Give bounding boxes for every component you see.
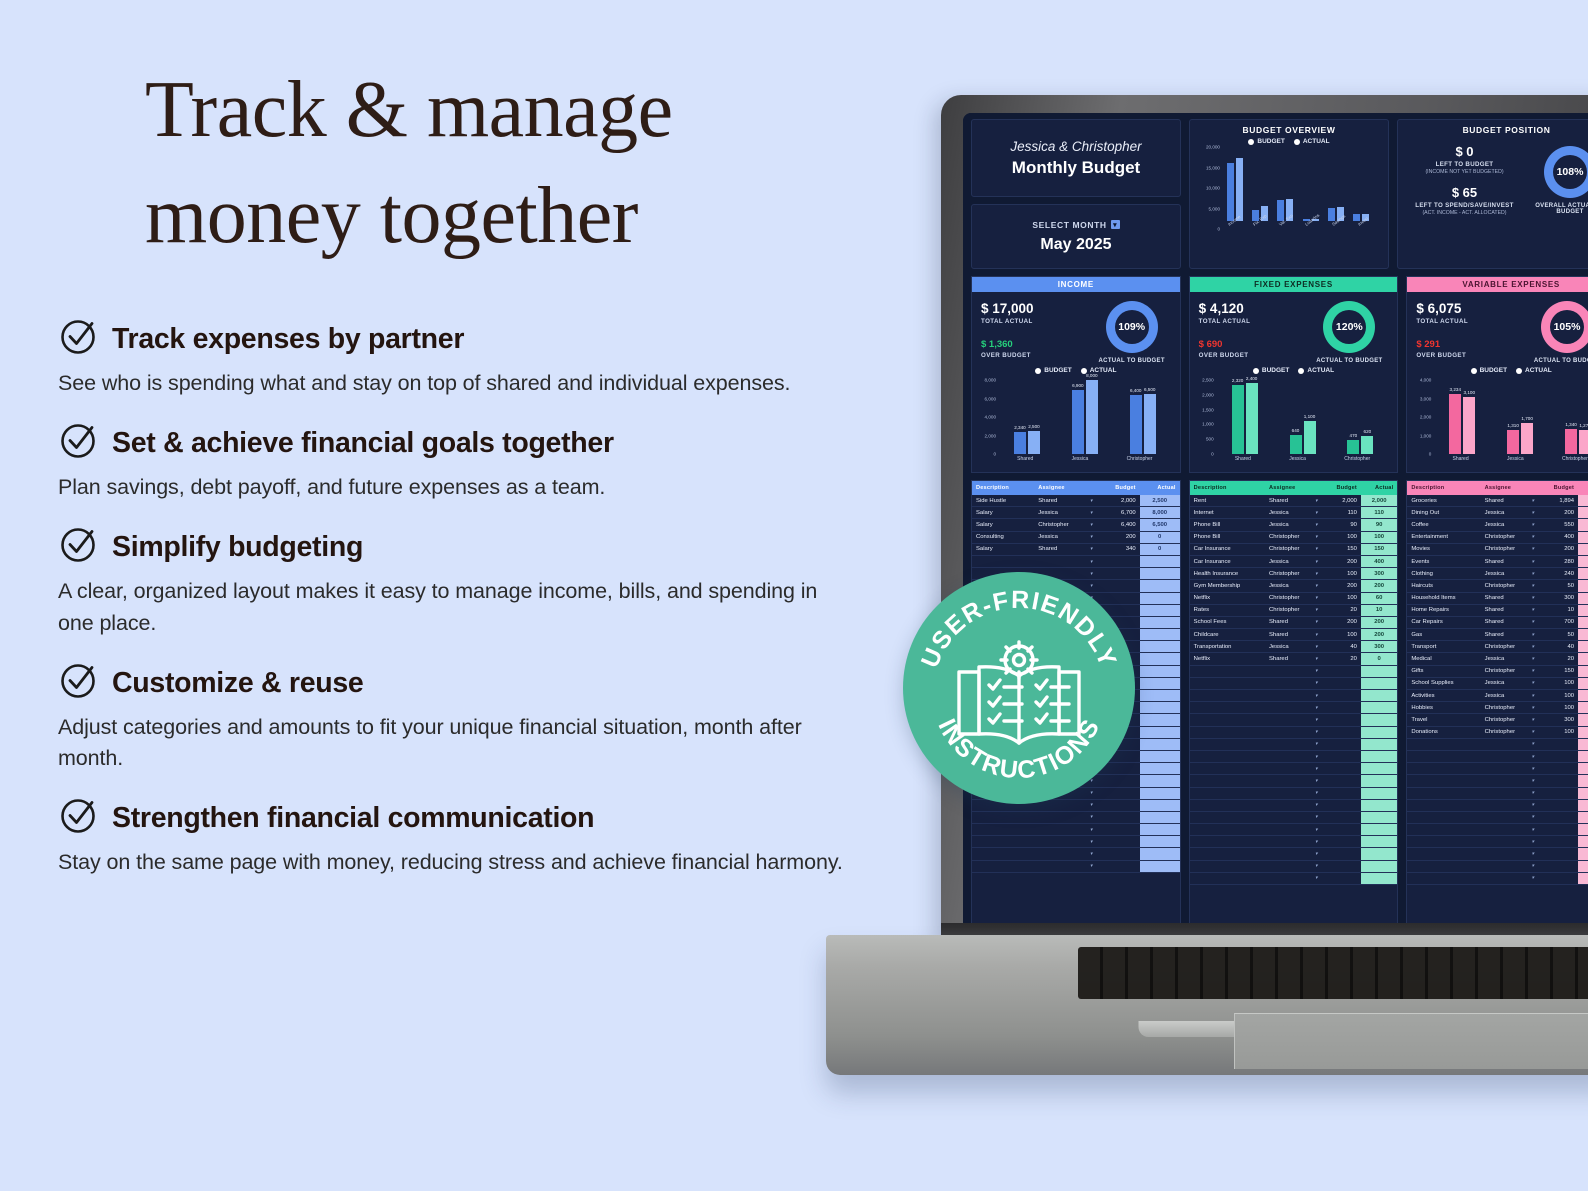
cell-description[interactable]: Phone Bill xyxy=(1190,519,1265,531)
cell-actual[interactable] xyxy=(1140,836,1180,848)
table-row[interactable]: Car Repairs Shared▾ 700 700 xyxy=(1407,616,1588,628)
column-header[interactable]: Description xyxy=(1407,481,1480,495)
table-row[interactable]: Gym Membership Jessica▾ 200 200 xyxy=(1190,580,1398,592)
chevron-down-icon[interactable]: ▾ xyxy=(1532,546,1535,552)
table-row[interactable]: ▾ xyxy=(1407,775,1588,787)
chevron-down-icon[interactable]: ▾ xyxy=(1090,498,1093,504)
table-row[interactable]: Health Insurance Christopher▾ 100 300 xyxy=(1190,568,1398,580)
cell-assignee[interactable]: ▾ xyxy=(1265,690,1322,702)
cell-budget[interactable]: 200 xyxy=(1538,507,1578,519)
cell-budget[interactable] xyxy=(1538,775,1578,787)
chevron-down-icon[interactable]: ▾ xyxy=(1532,595,1535,601)
cell-actual[interactable] xyxy=(1140,750,1180,762)
cell-actual[interactable]: 8,000 xyxy=(1140,507,1180,519)
cell-budget[interactable]: 100 xyxy=(1322,592,1361,604)
chevron-down-icon[interactable]: ▾ xyxy=(1532,498,1535,504)
chevron-down-icon[interactable]: ▾ xyxy=(1315,705,1318,711)
table-row[interactable]: Medical Jessica▾ 20 0 xyxy=(1407,653,1588,665)
chevron-down-icon[interactable]: ▾ xyxy=(1315,644,1318,650)
table-row[interactable]: ▾ xyxy=(1190,750,1398,762)
cell-actual[interactable] xyxy=(1361,860,1397,872)
cell-assignee[interactable]: Jessica▾ xyxy=(1265,641,1322,653)
column-header[interactable]: Budget xyxy=(1322,481,1361,495)
cell-budget[interactable] xyxy=(1322,824,1361,836)
cell-description[interactable] xyxy=(1407,750,1480,762)
cell-description[interactable] xyxy=(1190,738,1265,750)
cell-description[interactable] xyxy=(1407,848,1480,860)
table-row[interactable]: ▾ xyxy=(1190,799,1398,811)
cell-budget[interactable] xyxy=(1538,811,1578,823)
table-row[interactable]: Internet Jessica▾ 110 110 xyxy=(1190,507,1398,519)
chevron-down-icon[interactable]: ▾ xyxy=(1090,863,1093,869)
cell-description[interactable] xyxy=(1190,872,1265,884)
table-row[interactable]: ▾ xyxy=(972,811,1180,823)
cell-actual[interactable] xyxy=(1140,568,1180,580)
cell-description[interactable]: Movies xyxy=(1407,543,1480,555)
cell-actual[interactable] xyxy=(1140,616,1180,628)
chevron-down-icon[interactable]: ▾ xyxy=(1315,571,1318,577)
cell-assignee[interactable]: ▾ xyxy=(1265,775,1322,787)
cell-actual[interactable]: 2,000 xyxy=(1361,495,1397,507)
cell-description[interactable]: Car Insurance xyxy=(1190,555,1265,567)
cell-actual[interactable] xyxy=(1140,860,1180,872)
table-row[interactable]: ▾ xyxy=(1190,811,1398,823)
cell-actual[interactable] xyxy=(1140,555,1180,567)
table-row[interactable]: ▾ xyxy=(1190,775,1398,787)
cell-actual[interactable] xyxy=(1578,775,1588,787)
cell-budget[interactable]: 40 xyxy=(1322,641,1361,653)
cell-description[interactable] xyxy=(972,811,1034,823)
cell-budget[interactable] xyxy=(1322,799,1361,811)
cell-description[interactable]: Transport xyxy=(1407,641,1480,653)
chevron-down-icon[interactable]: ▾ xyxy=(1532,619,1535,625)
cell-actual[interactable]: 0 xyxy=(1578,653,1588,665)
cell-assignee[interactable]: Shared▾ xyxy=(1265,653,1322,665)
cell-assignee[interactable]: Shared▾ xyxy=(1034,495,1096,507)
table-row[interactable]: ▾ xyxy=(1190,836,1398,848)
cell-assignee[interactable]: Jessica▾ xyxy=(1481,568,1539,580)
cell-budget[interactable]: 400 xyxy=(1538,531,1578,543)
column-header[interactable]: Actual xyxy=(1140,481,1180,495)
cell-budget[interactable]: 20 xyxy=(1322,653,1361,665)
cell-budget[interactable] xyxy=(1538,836,1578,848)
cell-budget[interactable]: 240 xyxy=(1538,568,1578,580)
cell-assignee[interactable]: ▾ xyxy=(1265,677,1322,689)
cell-actual[interactable] xyxy=(1361,811,1397,823)
column-header[interactable]: Actual xyxy=(1361,481,1397,495)
table-row[interactable]: Coffee Jessica▾ 550 450 xyxy=(1407,519,1588,531)
cell-assignee[interactable]: ▾ xyxy=(1265,726,1322,738)
chevron-down-icon[interactable]: ▾ xyxy=(1315,814,1318,820)
table-row[interactable]: ▾ xyxy=(1190,787,1398,799)
cell-actual[interactable]: 100 xyxy=(1578,543,1588,555)
cell-actual[interactable] xyxy=(1361,848,1397,860)
cell-assignee[interactable]: Shared▾ xyxy=(1481,592,1539,604)
cell-actual[interactable]: 100 xyxy=(1578,702,1588,714)
chevron-down-icon[interactable]: ▾ xyxy=(1532,534,1535,540)
table-row[interactable]: ▾ xyxy=(1190,677,1398,689)
cell-assignee[interactable]: Christopher▾ xyxy=(1265,604,1322,616)
cell-budget[interactable]: 20 xyxy=(1322,604,1361,616)
table-row[interactable]: ▾ xyxy=(1407,848,1588,860)
cell-budget[interactable] xyxy=(1322,811,1361,823)
cell-budget[interactable] xyxy=(1322,787,1361,799)
cell-actual[interactable] xyxy=(1361,824,1397,836)
cell-actual[interactable]: 10 xyxy=(1361,604,1397,616)
cell-assignee[interactable]: Christopher▾ xyxy=(1481,543,1539,555)
cell-actual[interactable]: 0 xyxy=(1578,641,1588,653)
cell-budget[interactable]: 200 xyxy=(1322,555,1361,567)
cell-actual[interactable]: 300 xyxy=(1578,714,1588,726)
cell-budget[interactable]: 100 xyxy=(1538,702,1578,714)
cell-description[interactable]: Travel xyxy=(1407,714,1480,726)
cell-assignee[interactable]: ▾ xyxy=(1481,872,1539,884)
table-row[interactable]: ▾ xyxy=(1190,824,1398,836)
cell-budget[interactable] xyxy=(1538,824,1578,836)
chevron-down-icon[interactable]: ▾ xyxy=(1532,875,1535,881)
cell-assignee[interactable]: Shared▾ xyxy=(1481,629,1539,641)
cell-description[interactable]: Netflix xyxy=(1190,592,1265,604)
cell-assignee[interactable]: Christopher▾ xyxy=(1481,702,1539,714)
cell-assignee[interactable]: Christopher▾ xyxy=(1481,714,1539,726)
chevron-down-icon[interactable]: ▾ xyxy=(1315,754,1318,760)
cell-assignee[interactable]: ▾ xyxy=(1481,824,1539,836)
cell-description[interactable] xyxy=(1407,836,1480,848)
cell-assignee[interactable]: Jessica▾ xyxy=(1265,555,1322,567)
cell-budget[interactable] xyxy=(1538,738,1578,750)
table-row[interactable]: ▾ xyxy=(1190,702,1398,714)
cell-budget[interactable] xyxy=(1538,872,1578,884)
table-row[interactable]: ▾ xyxy=(972,555,1180,567)
chevron-down-icon[interactable]: ▾ xyxy=(1315,741,1318,747)
cell-actual[interactable] xyxy=(1361,665,1397,677)
table-row[interactable]: ▾ xyxy=(1190,665,1398,677)
cell-assignee[interactable]: Shared▾ xyxy=(1265,629,1322,641)
cell-description[interactable]: Hobbies xyxy=(1407,702,1480,714)
cell-actual[interactable]: 0 xyxy=(1578,629,1588,641)
chevron-down-icon[interactable]: ▾ xyxy=(1532,790,1535,796)
cell-budget[interactable]: 200 xyxy=(1538,543,1578,555)
cell-description[interactable]: Gas xyxy=(1407,629,1480,641)
cell-assignee[interactable]: Shared▾ xyxy=(1265,495,1322,507)
table-row[interactable]: Rent Shared▾ 2,000 2,000 xyxy=(1190,495,1398,507)
cell-actual[interactable] xyxy=(1578,738,1588,750)
chevron-down-icon[interactable]: ▾ xyxy=(1532,632,1535,638)
cell-actual[interactable] xyxy=(1140,775,1180,787)
cell-budget[interactable] xyxy=(1322,690,1361,702)
chevron-down-icon[interactable]: ▾ xyxy=(1315,534,1318,540)
cell-budget[interactable] xyxy=(1322,750,1361,762)
cell-assignee[interactable]: ▾ xyxy=(1265,702,1322,714)
cell-description[interactable] xyxy=(1190,787,1265,799)
chevron-down-icon[interactable]: ▾ xyxy=(1315,863,1318,869)
cell-actual[interactable] xyxy=(1140,690,1180,702)
cell-description[interactable] xyxy=(1407,775,1480,787)
column-header[interactable]: Description xyxy=(972,481,1034,495)
cell-actual[interactable] xyxy=(1140,653,1180,665)
cell-assignee[interactable]: ▾ xyxy=(1265,824,1322,836)
table-row[interactable]: ▾ xyxy=(1407,750,1588,762)
chevron-down-icon[interactable]: ▾ xyxy=(1315,619,1318,625)
cell-budget[interactable] xyxy=(1322,860,1361,872)
cell-actual[interactable] xyxy=(1361,690,1397,702)
cell-description[interactable] xyxy=(972,824,1034,836)
cell-budget[interactable]: 550 xyxy=(1538,519,1578,531)
table-row[interactable]: Haircuts Christopher▾ 50 75 xyxy=(1407,580,1588,592)
cell-assignee[interactable]: Christopher▾ xyxy=(1481,665,1539,677)
chevron-down-icon[interactable]: ▾ xyxy=(1315,498,1318,504)
cell-description[interactable] xyxy=(1190,811,1265,823)
chevron-down-icon[interactable]: ▾ xyxy=(1532,583,1535,589)
cell-assignee[interactable]: ▾ xyxy=(1481,750,1539,762)
cell-actual[interactable] xyxy=(1140,787,1180,799)
chevron-down-icon[interactable]: ▾ xyxy=(1532,510,1535,516)
chevron-down-icon[interactable]: ▾ xyxy=(1315,875,1318,881)
cell-assignee[interactable]: ▾ xyxy=(1265,836,1322,848)
cell-assignee[interactable]: ▾ xyxy=(1481,836,1539,848)
table-row[interactable]: ▾ xyxy=(1190,726,1398,738)
cell-description[interactable]: Netflix xyxy=(1190,653,1265,665)
table-row[interactable]: Movies Christopher▾ 200 100 xyxy=(1407,543,1588,555)
chevron-down-icon[interactable]: ▾ xyxy=(1315,595,1318,601)
cell-assignee[interactable]: ▾ xyxy=(1034,555,1096,567)
cell-description[interactable]: Haircuts xyxy=(1407,580,1480,592)
cell-assignee[interactable]: Christopher▾ xyxy=(1481,531,1539,543)
cell-assignee[interactable]: Jessica▾ xyxy=(1265,580,1322,592)
chevron-down-icon[interactable]: ▾ xyxy=(1315,802,1318,808)
cell-budget[interactable] xyxy=(1322,738,1361,750)
cell-description[interactable]: Phone Bill xyxy=(1190,531,1265,543)
cell-assignee[interactable]: Jessica▾ xyxy=(1265,519,1322,531)
cell-description[interactable] xyxy=(1190,726,1265,738)
table-row[interactable]: Hobbies Christopher▾ 100 100 xyxy=(1407,702,1588,714)
chevron-down-icon[interactable]: ▾ xyxy=(1532,766,1535,772)
cell-actual[interactable] xyxy=(1140,665,1180,677)
cell-actual[interactable]: 400 xyxy=(1361,555,1397,567)
cell-assignee[interactable]: ▾ xyxy=(1265,714,1322,726)
cell-assignee[interactable]: ▾ xyxy=(1265,811,1322,823)
chevron-down-icon[interactable]: ▾ xyxy=(1090,546,1093,552)
chevron-down-icon[interactable]: ▾ xyxy=(1532,522,1535,528)
chevron-down-icon[interactable]: ▾ xyxy=(1315,693,1318,699)
chevron-down-icon[interactable]: ▾ xyxy=(1532,863,1535,869)
chevron-down-icon[interactable]: ▾ xyxy=(1532,693,1535,699)
table-row[interactable]: Car Insurance Jessica▾ 200 400 xyxy=(1190,555,1398,567)
table-row[interactable]: Groceries Shared▾ 1,894 1,800 xyxy=(1407,495,1588,507)
cell-description[interactable] xyxy=(1190,763,1265,775)
calendar-picker-icon[interactable]: ▾ xyxy=(1111,220,1120,229)
cell-actual[interactable] xyxy=(1578,860,1588,872)
cell-actual[interactable] xyxy=(1140,629,1180,641)
cell-description[interactable]: Donations xyxy=(1407,726,1480,738)
cell-description[interactable] xyxy=(1190,714,1265,726)
cell-description[interactable] xyxy=(972,848,1034,860)
table-row[interactable]: Gifts Christopher▾ 150 100 xyxy=(1407,665,1588,677)
cell-actual[interactable]: 300 xyxy=(1361,641,1397,653)
cell-actual[interactable] xyxy=(1578,824,1588,836)
cell-description[interactable]: Household Items xyxy=(1407,592,1480,604)
cell-budget[interactable]: 90 xyxy=(1322,519,1361,531)
table-row[interactable]: Phone Bill Christopher▾ 100 100 xyxy=(1190,531,1398,543)
cell-budget[interactable] xyxy=(1096,848,1139,860)
cell-budget[interactable] xyxy=(1322,872,1361,884)
cell-assignee[interactable]: ▾ xyxy=(1265,860,1322,872)
table-row[interactable]: ▾ xyxy=(1190,872,1398,884)
cell-assignee[interactable]: Jessica▾ xyxy=(1034,531,1096,543)
table-row[interactable]: ▾ xyxy=(972,848,1180,860)
cell-description[interactable]: Clothing xyxy=(1407,568,1480,580)
cell-assignee[interactable]: ▾ xyxy=(1034,848,1096,860)
cell-assignee[interactable]: ▾ xyxy=(1481,775,1539,787)
cell-assignee[interactable]: Christopher▾ xyxy=(1481,726,1539,738)
cell-actual[interactable]: 400 xyxy=(1578,507,1588,519)
chevron-down-icon[interactable]: ▾ xyxy=(1315,778,1318,784)
cell-actual[interactable]: 200 xyxy=(1578,690,1588,702)
cell-assignee[interactable]: ▾ xyxy=(1481,811,1539,823)
cell-budget[interactable]: 300 xyxy=(1538,592,1578,604)
table-row[interactable]: Salary Jessica▾ 6,700 8,000 xyxy=(972,507,1180,519)
cell-description[interactable]: Events xyxy=(1407,555,1480,567)
cell-actual[interactable] xyxy=(1140,714,1180,726)
cell-actual[interactable] xyxy=(1140,726,1180,738)
cell-budget[interactable]: 2,000 xyxy=(1322,495,1361,507)
cell-description[interactable]: Salary xyxy=(972,507,1034,519)
table-row[interactable]: ▾ xyxy=(1407,836,1588,848)
table-row[interactable]: ▾ xyxy=(1407,763,1588,775)
cell-assignee[interactable]: Christopher▾ xyxy=(1265,543,1322,555)
cell-description[interactable] xyxy=(1190,824,1265,836)
cell-actual[interactable] xyxy=(1578,787,1588,799)
cell-description[interactable] xyxy=(1407,824,1480,836)
cell-assignee[interactable]: Jessica▾ xyxy=(1481,677,1539,689)
table-row[interactable]: ▾ xyxy=(1407,872,1588,884)
chevron-down-icon[interactable]: ▾ xyxy=(1532,827,1535,833)
table-row[interactable]: Travel Christopher▾ 300 300 xyxy=(1407,714,1588,726)
cell-description[interactable]: Car Repairs xyxy=(1407,616,1480,628)
table-row[interactable]: ▾ xyxy=(1190,848,1398,860)
cell-description[interactable] xyxy=(1190,799,1265,811)
table-row[interactable]: Childcare Shared▾ 100 200 xyxy=(1190,629,1398,641)
cell-actual[interactable] xyxy=(1140,738,1180,750)
chevron-down-icon[interactable]: ▾ xyxy=(1315,546,1318,552)
cell-budget[interactable] xyxy=(1322,775,1361,787)
cell-assignee[interactable]: Shared▾ xyxy=(1481,555,1539,567)
table-row[interactable]: ▾ xyxy=(1407,787,1588,799)
chevron-down-icon[interactable]: ▾ xyxy=(1532,717,1535,723)
cell-description[interactable]: Internet xyxy=(1190,507,1265,519)
cell-actual[interactable]: 1,800 xyxy=(1578,495,1588,507)
cell-description[interactable] xyxy=(972,555,1034,567)
cell-actual[interactable]: 200 xyxy=(1361,629,1397,641)
cell-description[interactable]: School Fees xyxy=(1190,616,1265,628)
chevron-down-icon[interactable]: ▾ xyxy=(1315,510,1318,516)
chevron-down-icon[interactable]: ▾ xyxy=(1532,802,1535,808)
chevron-down-icon[interactable]: ▾ xyxy=(1090,839,1093,845)
cell-actual[interactable]: 300 xyxy=(1578,555,1588,567)
cell-budget[interactable] xyxy=(1322,665,1361,677)
cell-description[interactable]: Car Insurance xyxy=(1190,543,1265,555)
cell-description[interactable]: Medical xyxy=(1407,653,1480,665)
cell-budget[interactable] xyxy=(1096,555,1139,567)
cell-budget[interactable] xyxy=(1322,702,1361,714)
cell-actual[interactable] xyxy=(1578,811,1588,823)
cell-assignee[interactable]: ▾ xyxy=(1265,799,1322,811)
cell-assignee[interactable]: ▾ xyxy=(1265,738,1322,750)
cell-description[interactable]: Activities xyxy=(1407,690,1480,702)
cell-actual[interactable] xyxy=(1361,775,1397,787)
chevron-down-icon[interactable]: ▾ xyxy=(1090,827,1093,833)
cell-assignee[interactable]: Jessica▾ xyxy=(1481,653,1539,665)
cell-assignee[interactable]: Shared▾ xyxy=(1034,543,1096,555)
chevron-down-icon[interactable]: ▾ xyxy=(1090,534,1093,540)
cell-assignee[interactable]: Shared▾ xyxy=(1265,616,1322,628)
cell-actual[interactable] xyxy=(1140,799,1180,811)
cell-budget[interactable] xyxy=(1538,763,1578,775)
chevron-down-icon[interactable]: ▾ xyxy=(1315,559,1318,565)
cell-description[interactable] xyxy=(1190,750,1265,762)
cell-actual[interactable]: 0 xyxy=(1140,531,1180,543)
cell-actual[interactable]: 300 xyxy=(1361,568,1397,580)
chevron-down-icon[interactable]: ▾ xyxy=(1315,656,1318,662)
cell-description[interactable] xyxy=(1190,665,1265,677)
cell-budget[interactable]: 6,400 xyxy=(1096,519,1139,531)
cell-actual[interactable] xyxy=(1140,592,1180,604)
cell-actual[interactable]: 90 xyxy=(1361,519,1397,531)
cell-description[interactable]: Rates xyxy=(1190,604,1265,616)
cell-budget[interactable]: 280 xyxy=(1538,555,1578,567)
cell-budget[interactable] xyxy=(1096,811,1139,823)
table-row[interactable]: Events Shared▾ 280 300 xyxy=(1407,555,1588,567)
cell-actual[interactable] xyxy=(1361,677,1397,689)
cell-budget[interactable]: 1,894 xyxy=(1538,495,1578,507)
chevron-down-icon[interactable]: ▾ xyxy=(1315,583,1318,589)
chevron-down-icon[interactable]: ▾ xyxy=(1315,717,1318,723)
selected-month-value[interactable]: May 2025 xyxy=(1040,236,1111,254)
chevron-down-icon[interactable]: ▾ xyxy=(1532,754,1535,760)
table-row[interactable]: ▾ xyxy=(1190,763,1398,775)
cell-assignee[interactable]: Christopher▾ xyxy=(1481,580,1539,592)
cell-budget[interactable] xyxy=(1538,787,1578,799)
cell-actual[interactable] xyxy=(1361,714,1397,726)
chevron-down-icon[interactable]: ▾ xyxy=(1090,851,1093,857)
chevron-down-icon[interactable]: ▾ xyxy=(1532,729,1535,735)
cell-actual[interactable]: 75 xyxy=(1578,580,1588,592)
cell-budget[interactable]: 100 xyxy=(1538,726,1578,738)
cell-assignee[interactable]: Shared▾ xyxy=(1481,604,1539,616)
cell-budget[interactable] xyxy=(1322,726,1361,738)
chevron-down-icon[interactable]: ▾ xyxy=(1315,766,1318,772)
cell-actual[interactable] xyxy=(1361,763,1397,775)
cell-description[interactable]: Gifts xyxy=(1407,665,1480,677)
cell-assignee[interactable]: Jessica▾ xyxy=(1481,507,1539,519)
chevron-down-icon[interactable]: ▾ xyxy=(1532,668,1535,674)
cell-budget[interactable] xyxy=(1096,824,1139,836)
cell-assignee[interactable]: ▾ xyxy=(1034,811,1096,823)
table-row[interactable]: Phone Bill Jessica▾ 90 90 xyxy=(1190,519,1398,531)
chevron-down-icon[interactable]: ▾ xyxy=(1532,571,1535,577)
cell-assignee[interactable]: ▾ xyxy=(1481,738,1539,750)
chevron-down-icon[interactable]: ▾ xyxy=(1315,632,1318,638)
chevron-down-icon[interactable]: ▾ xyxy=(1315,680,1318,686)
cell-assignee[interactable]: ▾ xyxy=(1481,787,1539,799)
cell-budget[interactable]: 150 xyxy=(1538,665,1578,677)
table-row[interactable]: ▾ xyxy=(972,836,1180,848)
cell-actual[interactable]: 200 xyxy=(1361,616,1397,628)
chevron-down-icon[interactable]: ▾ xyxy=(1532,851,1535,857)
cell-actual[interactable] xyxy=(1361,872,1397,884)
table-row[interactable]: ▾ xyxy=(1190,690,1398,702)
cell-description[interactable]: Rent xyxy=(1190,495,1265,507)
